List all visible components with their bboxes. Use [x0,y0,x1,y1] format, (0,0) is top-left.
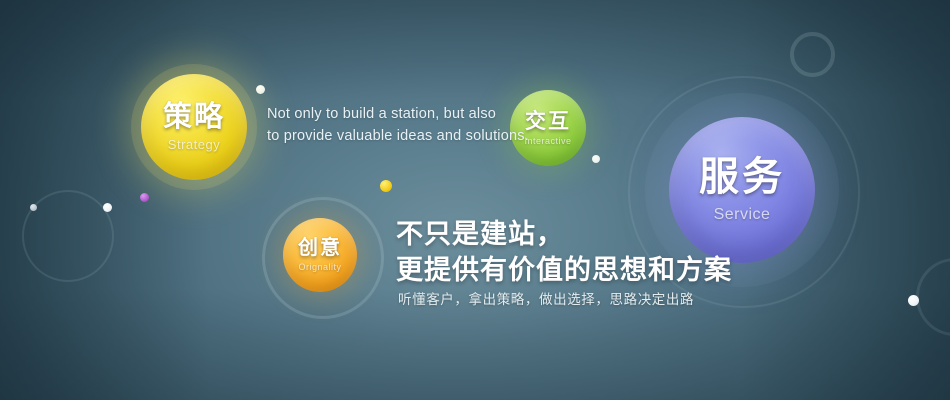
hero-banner: 策略 Strategy 交互 Interactive 创意 Orignality… [0,0,950,400]
sphere-originality-label-en: Orignality [298,263,341,272]
sphere-originality[interactable]: 创意 Orignality [283,218,357,292]
headline: 不只是建站， 更提供有价值的思想和方案 [396,216,732,289]
sphere-strategy-label-en: Strategy [168,138,220,151]
english-tagline-line1: Not only to build a station, but also [267,104,517,126]
sphere-strategy[interactable]: 策略 Strategy [141,74,247,180]
headline-line2: 更提供有价值的思想和方案 [396,252,732,288]
sphere-strategy-label-cn: 策略 [163,103,225,132]
sphere-originality-label-cn: 创意 [298,238,342,258]
english-tagline-line2: to provide valuable ideas and solutions. [267,126,517,148]
sub-headline: 听懂客户，拿出策略，做出选择，思路决定出路 [398,288,694,308]
english-tagline: Not only to build a station, but also to… [267,104,517,148]
sphere-service-label-cn: 服务 [699,157,785,197]
sphere-interactive-label-cn: 交互 [525,111,571,132]
headline-line1: 不只是建站， [396,216,732,252]
sphere-interactive-label-en: Interactive [524,137,571,146]
